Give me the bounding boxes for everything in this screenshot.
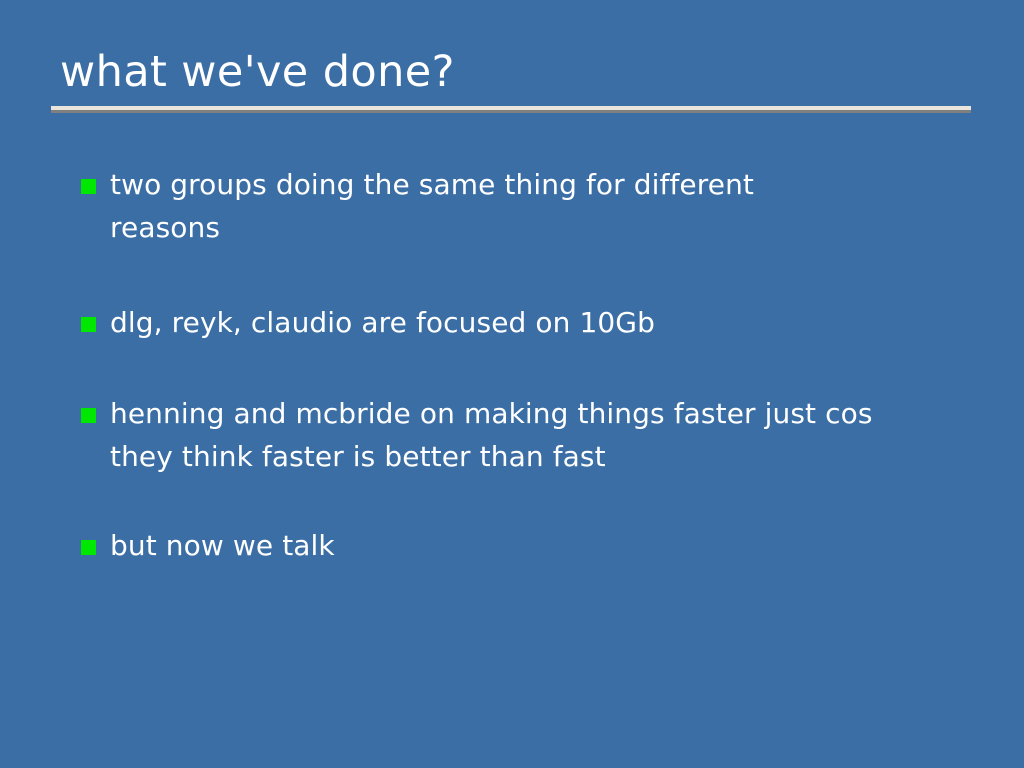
square-bullet-icon [81, 317, 96, 332]
square-bullet-icon [81, 540, 96, 555]
presentation-slide: what we've done? two groups doing the sa… [0, 0, 1024, 768]
list-item: henning and mcbride on making things fas… [81, 392, 961, 478]
list-item-label: two groups doing the same thing for diff… [110, 168, 754, 244]
list-item: dlg, reyk, claudio are focused on 10Gb [81, 301, 961, 344]
list-item-label: henning and mcbride on making things fas… [110, 397, 873, 473]
slide-title-block: what we've done? [51, 46, 971, 98]
square-bullet-icon [81, 408, 96, 423]
page-title: what we've done? [51, 46, 971, 98]
list-item-label: dlg, reyk, claudio are focused on 10Gb [110, 306, 655, 339]
list-item-label: but now we talk [110, 529, 335, 562]
title-rule-shadow [51, 110, 971, 113]
list-item: but now we talk [81, 524, 961, 567]
title-underline-rule [51, 106, 971, 112]
list-item: two groups doing the same thing for diff… [81, 163, 961, 249]
slide-body-bullet-list: two groups doing the same thing for diff… [81, 163, 961, 567]
square-bullet-icon [81, 179, 96, 194]
